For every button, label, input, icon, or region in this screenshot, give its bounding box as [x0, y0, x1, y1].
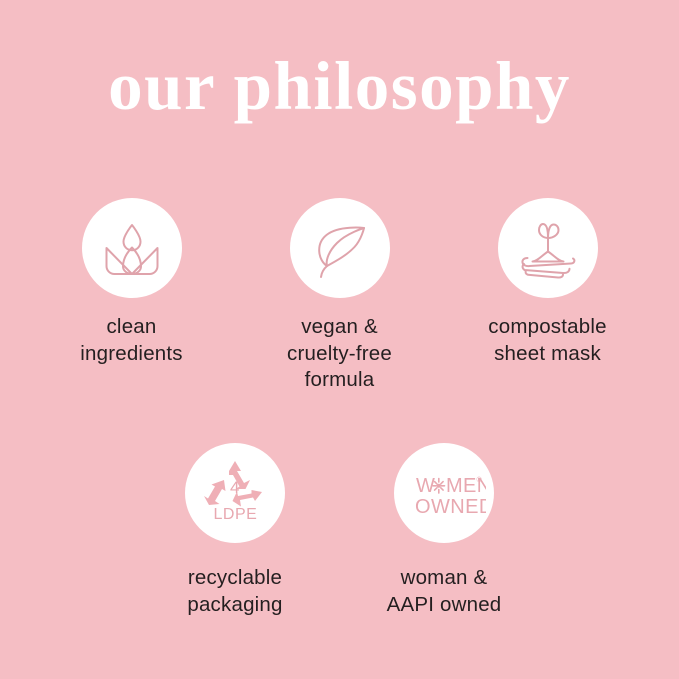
- page-title: our philosophy: [0, 52, 679, 121]
- philosophy-row-bottom: 4 LDPE recyclable packaging W: [0, 443, 679, 618]
- leaf-icon: [303, 211, 377, 285]
- women-owned-trademark: ®: [477, 476, 483, 484]
- philosophy-row-top: clean ingredients vegan & cruelty-free f…: [0, 198, 679, 394]
- women-owned-line2: OWNED: [415, 496, 486, 518]
- women-owned-line1-prefix: W: [416, 475, 435, 497]
- recycling-ldpe-icon: 4 LDPE: [199, 457, 271, 529]
- svg-text:4: 4: [230, 478, 239, 497]
- philosophy-item-caption: woman & AAPI owned: [387, 565, 502, 618]
- philosophy-item-caption: compostable sheet mask: [488, 314, 606, 367]
- philosophy-item-clean-ingredients: clean ingredients: [28, 198, 236, 394]
- icon-circle: 4 LDPE: [185, 443, 285, 543]
- philosophy-item-vegan-cruelty-free: vegan & cruelty-free formula: [236, 198, 444, 394]
- philosophy-item-compostable-sheet-mask: compostable sheet mask: [444, 198, 652, 394]
- icon-circle: [82, 198, 182, 298]
- icon-circle: [290, 198, 390, 298]
- philosophy-item-caption: clean ingredients: [80, 314, 183, 367]
- svg-text:LDPE: LDPE: [214, 506, 258, 523]
- philosophy-item-caption: recyclable packaging: [187, 565, 282, 618]
- icon-circle: W: [394, 443, 494, 543]
- lotus-droplet-icon: [95, 211, 169, 285]
- hand-holding-sprout-icon: [511, 211, 585, 285]
- women-owned-badge-icon: W: [402, 451, 486, 535]
- icon-circle: [498, 198, 598, 298]
- philosophy-poster: our philosophy cle: [0, 0, 679, 679]
- philosophy-item-caption: vegan & cruelty-free formula: [287, 314, 392, 394]
- philosophy-item-woman-aapi-owned: W: [340, 443, 549, 618]
- philosophy-item-recyclable-packaging: 4 LDPE recyclable packaging: [131, 443, 340, 618]
